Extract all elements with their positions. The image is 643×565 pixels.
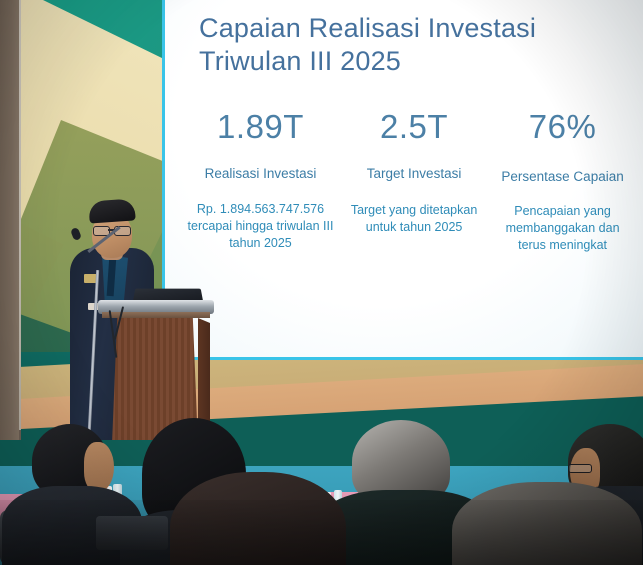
slide-content: Capaian Realisasi Investasi Triwulan III… (165, 0, 643, 357)
stat-value-realisasi: 1.89T (183, 108, 338, 146)
eyeglasses-icon (568, 464, 592, 473)
stat-column-persentase: 76% Persentase Capaian Pencapaian yang m… (486, 108, 639, 254)
face (84, 442, 114, 492)
stat-value-target: 2.5T (346, 108, 482, 146)
peci-cap-icon (88, 198, 135, 223)
podium-top-trim (102, 312, 210, 318)
stat-value-persentase: 76% (490, 108, 635, 146)
stat-label-persentase: Persentase Capaian (490, 168, 635, 185)
slide-stat-columns: 1.89T Realisasi Investasi Rp. 1.894.563.… (179, 108, 639, 254)
stat-description-persentase: Pencapaian yang membanggakan dan terus m… (490, 203, 635, 254)
left-wall (0, 0, 19, 440)
stat-column-target: 2.5T Target Investasi Target yang diteta… (342, 108, 486, 254)
stat-label-target: Target Investasi (346, 165, 482, 182)
slide-title: Capaian Realisasi Investasi Triwulan III… (199, 12, 619, 78)
presentation-photo: Capaian Realisasi Investasi Triwulan III… (0, 0, 643, 565)
stat-column-realisasi: 1.89T Realisasi Investasi Rp. 1.894.563.… (179, 108, 342, 254)
stat-description-realisasi: Rp. 1.894.563.747.576 tercapai hingga tr… (183, 201, 338, 252)
stat-description-target: Target yang ditetapkan untuk tahun 2025 (346, 202, 482, 236)
foreground-shadow (0, 500, 643, 565)
stat-label-realisasi: Realisasi Investasi (183, 165, 338, 182)
